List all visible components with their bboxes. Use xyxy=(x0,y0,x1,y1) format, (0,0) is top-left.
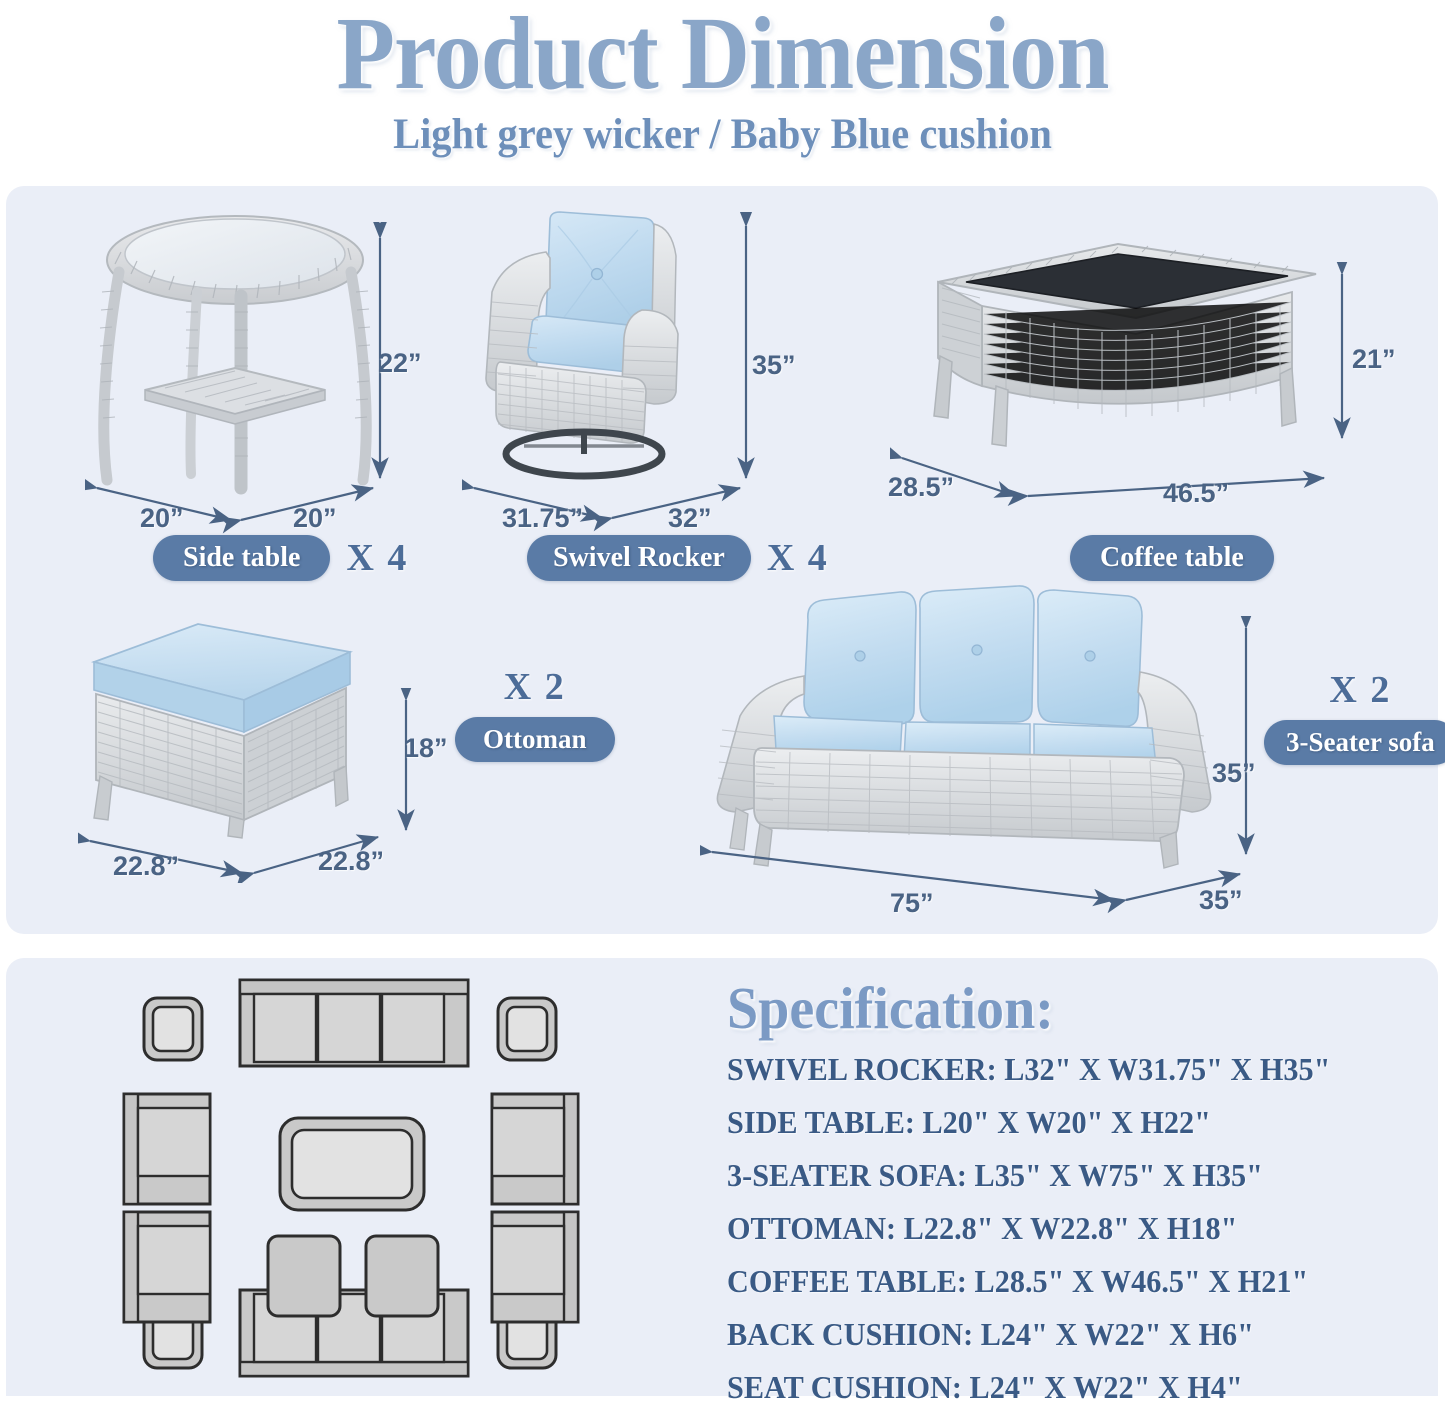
product-side-table xyxy=(85,212,385,502)
side-table-shelf xyxy=(145,368,325,424)
side-table-multiplier: X 4 xyxy=(346,536,408,580)
page-header: Product Dimension Light grey wicker / Ba… xyxy=(0,0,1445,159)
sofa-left-label: 75” xyxy=(890,888,934,919)
coffee-table-right-label: 46.5” xyxy=(1163,478,1229,509)
ottoman-right-label: 22.8” xyxy=(318,846,384,877)
spec-line-3-seater-sofa: 3-SEATER SOFA: L35" X W75" X H35" xyxy=(727,1160,1409,1192)
ottoman-left-label: 22.8” xyxy=(113,851,179,882)
floorplan-coffee-table xyxy=(280,1118,424,1210)
product-3-seater-sofa xyxy=(700,580,1260,880)
swivel-rocker-badge-group: Swivel Rocker X 4 xyxy=(527,535,829,581)
side-table-illustration xyxy=(85,212,385,502)
side-table-badge[interactable]: Side table xyxy=(153,535,330,581)
product-swivel-rocker xyxy=(466,206,731,486)
sofa-badge-group: X 2 3-Seater sofa xyxy=(1264,668,1445,765)
floorplan-ottoman-left xyxy=(268,1236,340,1316)
ottoman-height-label: 18” xyxy=(404,733,448,764)
floorplan-side-table-top-left xyxy=(144,998,202,1060)
swivel-rocker-height-label: 35” xyxy=(752,350,796,381)
sofa-multiplier: X 2 xyxy=(1329,668,1391,712)
floorplan-ottoman-right xyxy=(366,1236,438,1316)
sofa-height-label: 35” xyxy=(1212,758,1256,789)
floorplan-chair-left-lower xyxy=(124,1212,210,1322)
spec-line-swivel-rocker: SWIVEL ROCKER: L32" X W31.75" X H35" xyxy=(727,1054,1409,1086)
side-table-right-label: 20” xyxy=(293,503,337,534)
sofa-dimension-arrows xyxy=(700,838,1260,918)
spec-line-side-table: SIDE TABLE: L20" X W20" X H22" xyxy=(727,1107,1409,1139)
specification-title: Specification: xyxy=(727,978,1402,1040)
spec-line-ottoman: OTTOMAN: L22.8" X W22.8" X H18" xyxy=(727,1213,1409,1245)
coffee-table-badge-group: Coffee table xyxy=(1070,535,1274,581)
page-title: Product Dimension xyxy=(58,2,1387,106)
arrangement-floorplan xyxy=(106,968,716,1388)
side-table-dimension-arrows xyxy=(85,476,385,536)
sofa-illustration xyxy=(700,580,1260,880)
sofa-right-label: 35” xyxy=(1199,885,1243,916)
spec-line-seat-cushion: SEAT CUSHION: L24" X W22" X H4" xyxy=(727,1372,1409,1404)
coffee-table-illustration xyxy=(896,236,1326,451)
swivel-rocker-left-label: 31.75” xyxy=(502,503,583,534)
product-coffee-table xyxy=(896,236,1326,451)
coffee-table-badge[interactable]: Coffee table xyxy=(1070,535,1274,581)
ottoman-multiplier: X 2 xyxy=(504,665,566,709)
floorplan-sofa-top xyxy=(240,980,468,1066)
spec-line-coffee-table: COFFEE TABLE: L28.5" X W46.5" X H21" xyxy=(727,1266,1409,1298)
floorplan-chair-right-upper xyxy=(492,1094,578,1204)
spec-line-back-cushion: BACK CUSHION: L24" X W22" X H6" xyxy=(727,1319,1409,1351)
swivel-rocker-multiplier: X 4 xyxy=(767,536,829,580)
ottoman-badge-group: X 2 Ottoman xyxy=(455,665,615,762)
floorplan-chair-left-upper xyxy=(124,1094,210,1204)
sofa-height-arrow xyxy=(1228,616,1268,876)
coffee-table-dimension-arrows xyxy=(890,444,1340,514)
side-table-badge-group: Side table X 4 xyxy=(153,535,408,581)
swivel-rocker-badge[interactable]: Swivel Rocker xyxy=(527,535,751,581)
floorplan-side-table-top-right xyxy=(498,998,556,1060)
coffee-table-left-label: 28.5” xyxy=(888,472,954,503)
product-ottoman xyxy=(72,614,392,839)
page-subtitle: Light grey wicker / Baby Blue cushion xyxy=(43,110,1401,159)
ottoman-badge[interactable]: Ottoman xyxy=(455,717,615,762)
ottoman-illustration xyxy=(72,614,392,839)
sofa-badge[interactable]: 3-Seater sofa xyxy=(1264,720,1445,765)
floorplan-chair-right-lower xyxy=(492,1212,578,1322)
swivel-rocker-illustration xyxy=(466,206,731,486)
ottoman-height-arrow xyxy=(388,688,428,848)
specification-block: Specification: SWIVEL ROCKER: L32" X W31… xyxy=(727,978,1437,1425)
coffee-table-height-label: 21” xyxy=(1352,344,1396,375)
side-table-height-label: 22” xyxy=(378,348,422,379)
side-table-left-label: 20” xyxy=(140,503,184,534)
swivel-rocker-right-label: 32” xyxy=(668,503,712,534)
